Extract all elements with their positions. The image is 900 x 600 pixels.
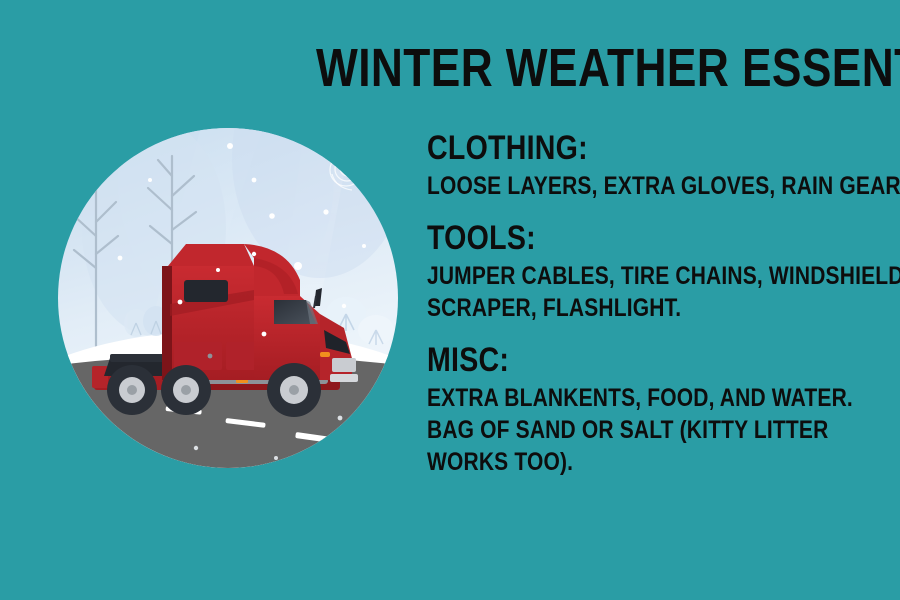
illustration-scene [58,118,398,478]
sleeper-window [184,280,228,302]
section-tools: TOOLS: JUMPER CABLES, TIRE CHAINS, WINDS… [427,220,887,324]
section-clothing: CLOTHING: LOOSE LAYERS, EXTRA GLOVES, RA… [427,130,887,202]
poster-canvas: WINTER WEATHER ESSENTIALS: [0,0,900,600]
section-line-misc-2: BAG OF SAND OR SALT (KITTY LITTER [427,414,813,446]
bumper [330,374,358,382]
winter-truck-illustration [58,118,398,478]
section-heading-tools: TOOLS: [427,220,813,256]
section-heading-misc: MISC: [427,342,813,378]
section-line-misc-1: EXTRA BLANKENTS, FOOD, AND WATER. [427,382,813,414]
section-line-misc-3: WORKS TOO). [427,446,813,478]
section-misc: MISC: EXTRA BLANKENTS, FOOD, AND WATER. … [427,342,887,478]
section-line-clothing-1: LOOSE LAYERS, EXTRA GLOVES, RAIN GEAR. [427,170,813,202]
essentials-list: CLOTHING: LOOSE LAYERS, EXTRA GLOVES, RA… [427,130,887,478]
marker-light [320,352,330,357]
grille [332,358,356,372]
section-line-tools-2: SCRAPER, FLASHLIGHT. [427,292,813,324]
section-line-tools-1: JUMPER CABLES, TIRE CHAINS, WINDSHIELD [427,260,813,292]
page-title: WINTER WEATHER ESSENTIALS: [316,40,775,96]
section-heading-clothing: CLOTHING: [427,130,813,166]
